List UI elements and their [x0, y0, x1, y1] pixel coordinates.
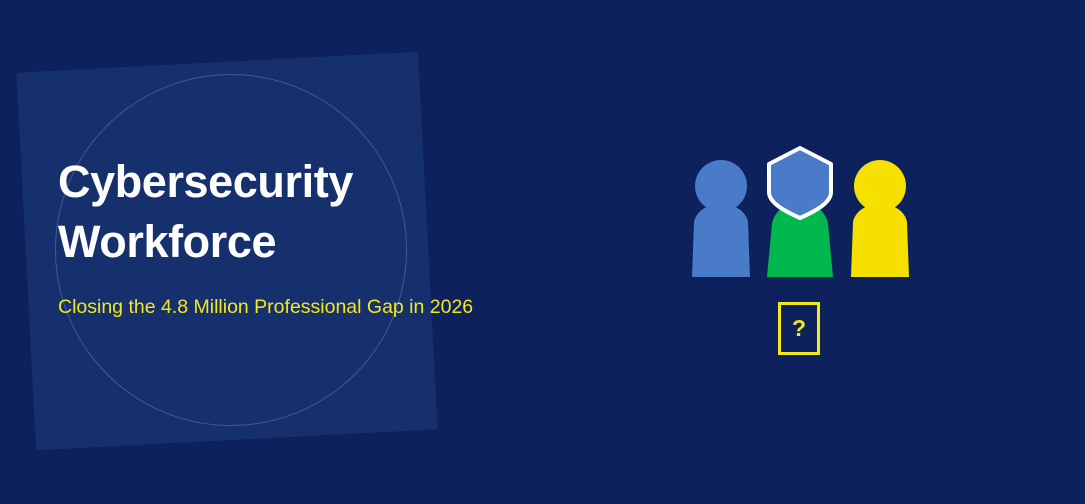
person-figure-blue-icon [692, 160, 750, 277]
person-figure-yellow-icon [851, 160, 909, 277]
vacant-role-placeholder: ? [778, 302, 820, 355]
page-title: Cybersecurity Workforce [58, 152, 528, 272]
person-figure-green-shield-icon [767, 148, 833, 277]
slide-canvas: Cybersecurity Workforce Closing the 4.8 … [0, 0, 1085, 504]
title-block: Cybersecurity Workforce Closing the 4.8 … [58, 152, 528, 322]
question-mark-icon: ? [792, 317, 806, 340]
slide-subtitle: Closing the 4.8 Million Professional Gap… [58, 292, 528, 322]
